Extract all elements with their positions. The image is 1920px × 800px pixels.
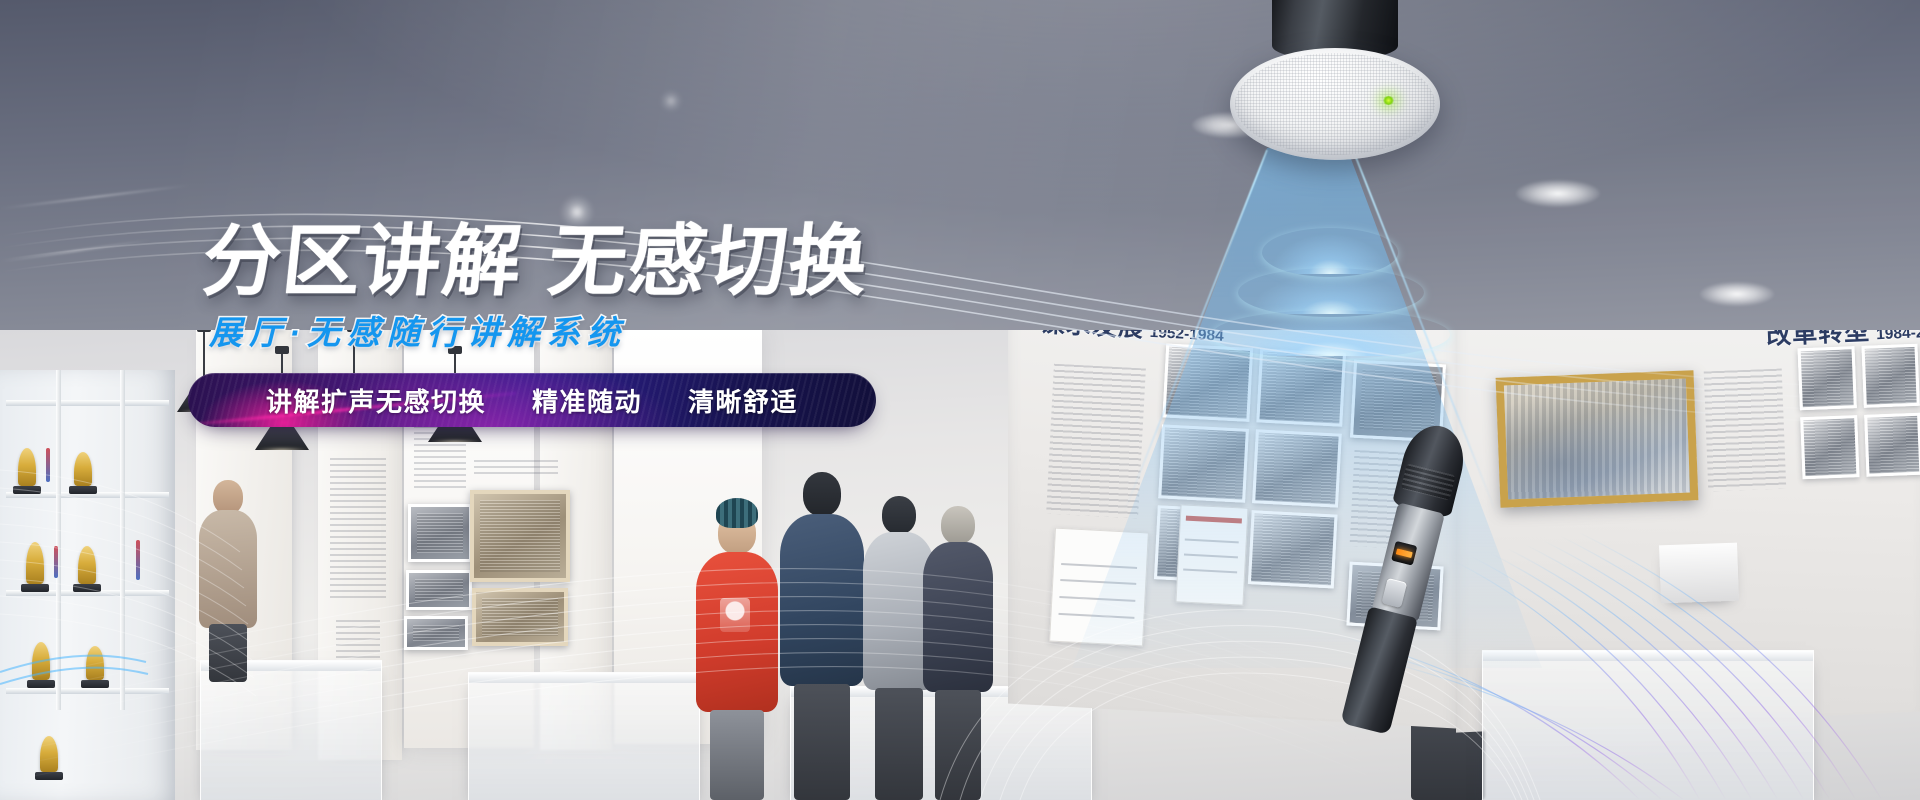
- speaker-status-led: [1382, 96, 1395, 105]
- display-case: [1482, 650, 1814, 800]
- trophy: [74, 452, 92, 486]
- visitor-head: [882, 496, 916, 534]
- headline-block: 分区讲解无感切换 展厅·无感随行讲解系统: [203, 222, 869, 349]
- trophy: [86, 646, 104, 680]
- visitor-head: [941, 506, 975, 544]
- wall-photo-portrait: [470, 490, 570, 582]
- visitor-legs: [794, 684, 850, 800]
- trophy: [26, 542, 44, 584]
- wall-title-right-years: 1984-2010: [1876, 330, 1920, 343]
- headline-part-2: 无感切换: [544, 217, 873, 305]
- hero-banner: 谋求发展1952-1984 改革转型1984-2010: [0, 0, 1920, 800]
- trophy: [40, 736, 58, 772]
- page-title: 分区讲解无感切换: [199, 222, 873, 300]
- feature-pill-1: 讲解扩声无感切换: [266, 382, 486, 419]
- trophy: [32, 642, 50, 680]
- sound-wave-arc: [1212, 310, 1450, 359]
- cabinet-shelf: [6, 400, 169, 406]
- visitor-body: [780, 514, 864, 686]
- trophy-cabinet: [0, 370, 175, 800]
- exhibit-pedestal: [1659, 543, 1739, 604]
- grid-photo: [1864, 413, 1920, 477]
- visitor-legs: [710, 710, 764, 800]
- speaker-dome: [1230, 48, 1440, 160]
- medal-ribbon: [46, 448, 50, 482]
- trophy: [18, 448, 36, 486]
- trophy: [78, 546, 96, 584]
- wall-photo-grid: [1798, 344, 1920, 480]
- medal-ribbon: [136, 540, 140, 580]
- visitor-elderly: [922, 506, 994, 800]
- wall-painting: [1496, 370, 1699, 508]
- visitor-legs: [209, 624, 247, 682]
- cabinet-divider: [56, 370, 61, 710]
- ceiling-downlight: [1700, 282, 1774, 306]
- wall-text-block: [1704, 369, 1787, 492]
- visitor-body: [696, 552, 778, 712]
- visitor-head: [803, 472, 841, 516]
- feature-pill-3: 清晰舒适: [688, 382, 798, 419]
- panel-caption: [474, 460, 558, 478]
- display-case: [468, 672, 700, 800]
- grid-photo: [1798, 346, 1857, 410]
- medal-ribbon: [54, 546, 58, 578]
- visitor-body: [199, 510, 257, 628]
- visitor: [196, 480, 260, 680]
- speaker-mesh: [1235, 53, 1435, 155]
- visitor-vest-logo: [720, 598, 750, 632]
- wall-photo: [406, 570, 472, 610]
- cabinet-divider: [120, 370, 125, 710]
- visitor-red-vest: [694, 506, 780, 800]
- feature-pill-2: 精准随动: [532, 382, 642, 419]
- visitor-body: [923, 542, 993, 692]
- visitor-legs: [935, 690, 981, 800]
- visitor: [778, 472, 866, 800]
- visitor-hat: [716, 498, 758, 528]
- wall-photo: [408, 504, 472, 562]
- ceiling-speaker: [1210, 0, 1460, 180]
- wall-photo-group: [472, 588, 568, 646]
- headline-part-1: 分区讲解: [198, 217, 527, 305]
- wall-photo: [404, 616, 468, 650]
- grid-photo: [1800, 415, 1859, 479]
- panel-text-block: [330, 458, 386, 602]
- cabinet-shelf: [6, 688, 169, 694]
- visitor-head: [213, 480, 243, 514]
- ceiling-downlight: [1516, 180, 1600, 207]
- feature-pill-bar: 讲解扩声无感切换 精准随动 清晰舒适: [188, 373, 876, 427]
- visitor-legs: [875, 688, 923, 800]
- grid-photo: [1861, 344, 1920, 408]
- page-subtitle: 展厅·无感随行讲解系统: [209, 316, 869, 349]
